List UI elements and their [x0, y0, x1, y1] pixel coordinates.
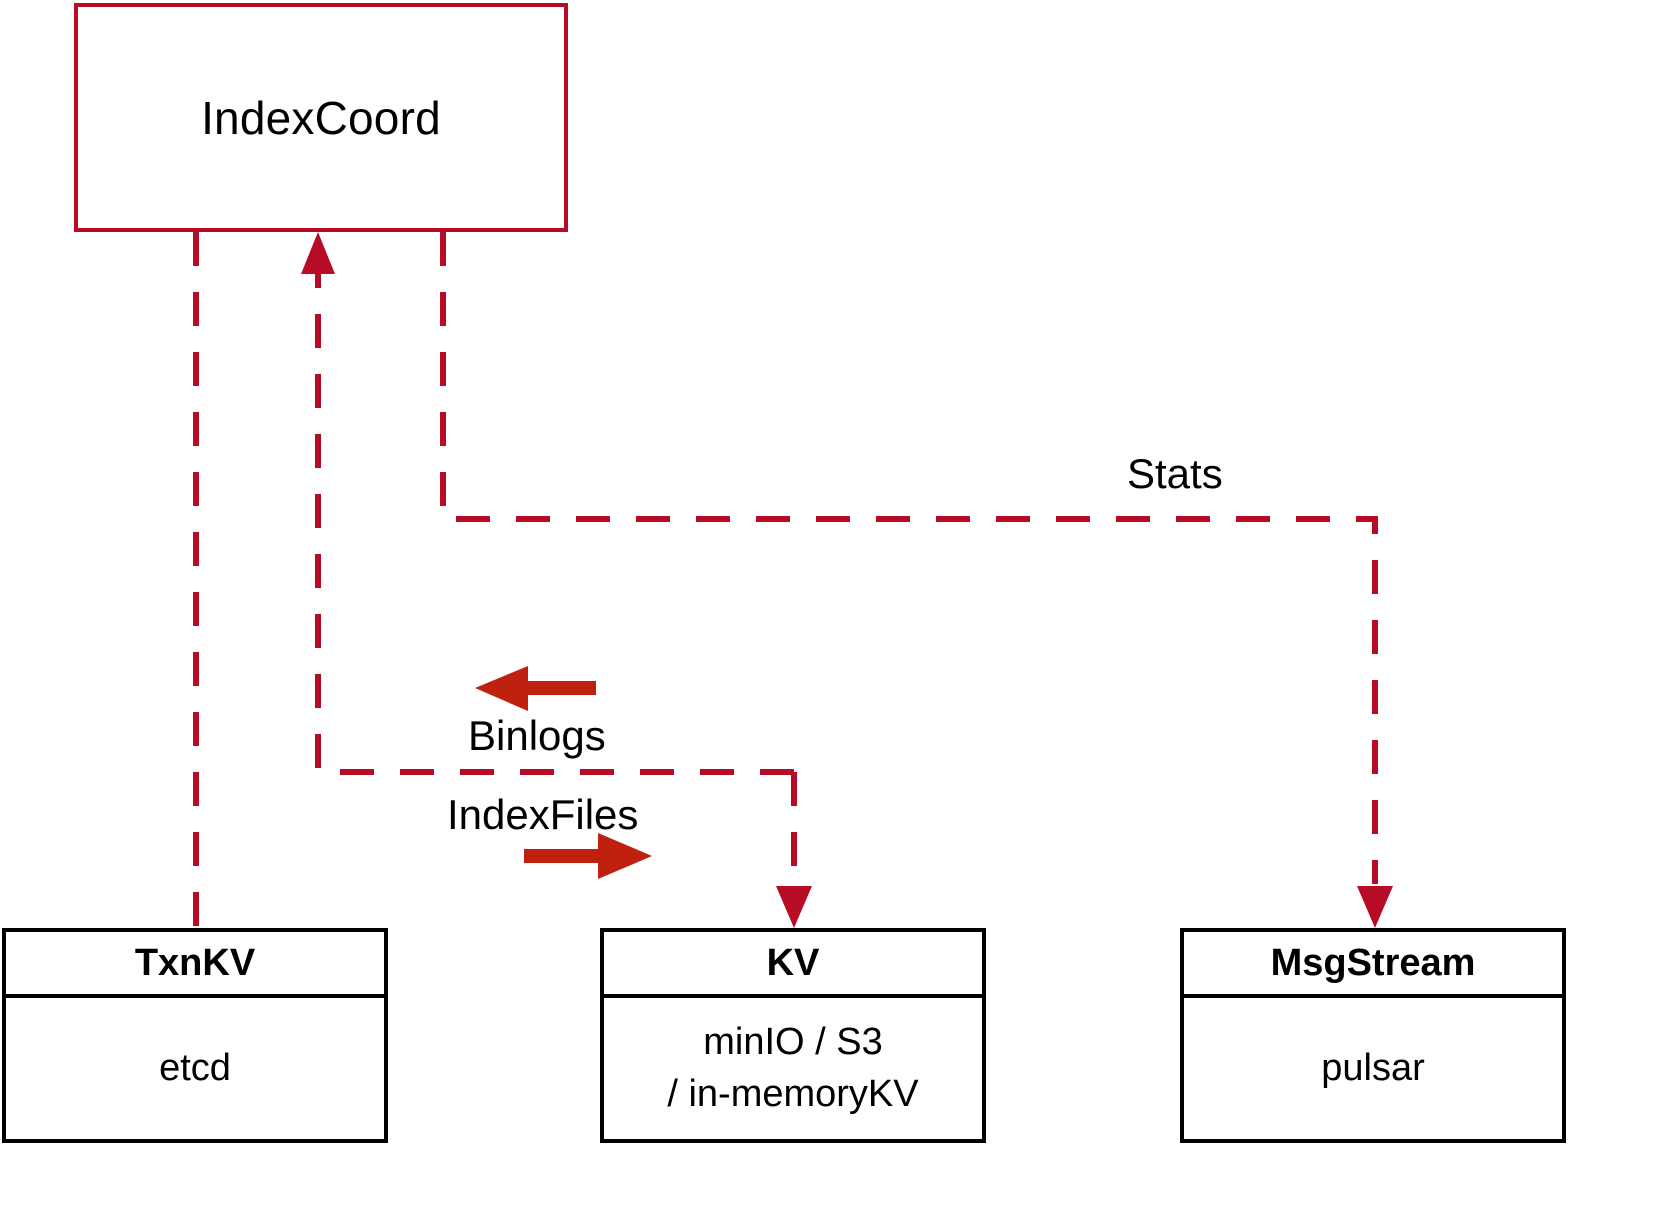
node-msgstream-title: MsgStream: [1184, 932, 1562, 998]
node-msgstream[interactable]: MsgStream pulsar: [1180, 928, 1566, 1143]
edge-label-stats: Stats: [1127, 450, 1223, 498]
indexfiles-direction-arrow: [524, 833, 652, 879]
edge-label-indexfiles: IndexFiles: [447, 791, 638, 839]
node-txnkv[interactable]: TxnKV etcd: [2, 928, 388, 1143]
edge-coord-to-kv: [776, 772, 812, 928]
node-txnkv-body-line-1: etcd: [159, 1043, 231, 1094]
node-kv[interactable]: KV minIO / S3 / in-memoryKV: [600, 928, 986, 1143]
node-txnkv-title: TxnKV: [6, 932, 384, 998]
node-kv-body-line-2: / in-memoryKV: [667, 1069, 918, 1120]
node-msgstream-body-line-1: pulsar: [1321, 1043, 1425, 1094]
node-kv-body-line-1: minIO / S3: [703, 1017, 883, 1068]
diagram-canvas: TxnKV : plain dashed vertical line --> I…: [0, 0, 1667, 1223]
node-kv-title: KV: [604, 932, 982, 998]
node-indexcoord-label: IndexCoord: [201, 91, 441, 145]
edge-kv-to-coord: [301, 232, 794, 772]
edge-label-binlogs: Binlogs: [468, 712, 606, 760]
node-txnkv-body: etcd: [6, 998, 384, 1139]
node-kv-body: minIO / S3 / in-memoryKV: [604, 998, 982, 1139]
binlogs-direction-arrow: [475, 666, 596, 711]
node-msgstream-body: pulsar: [1184, 998, 1562, 1139]
node-indexcoord[interactable]: IndexCoord: [74, 3, 568, 232]
